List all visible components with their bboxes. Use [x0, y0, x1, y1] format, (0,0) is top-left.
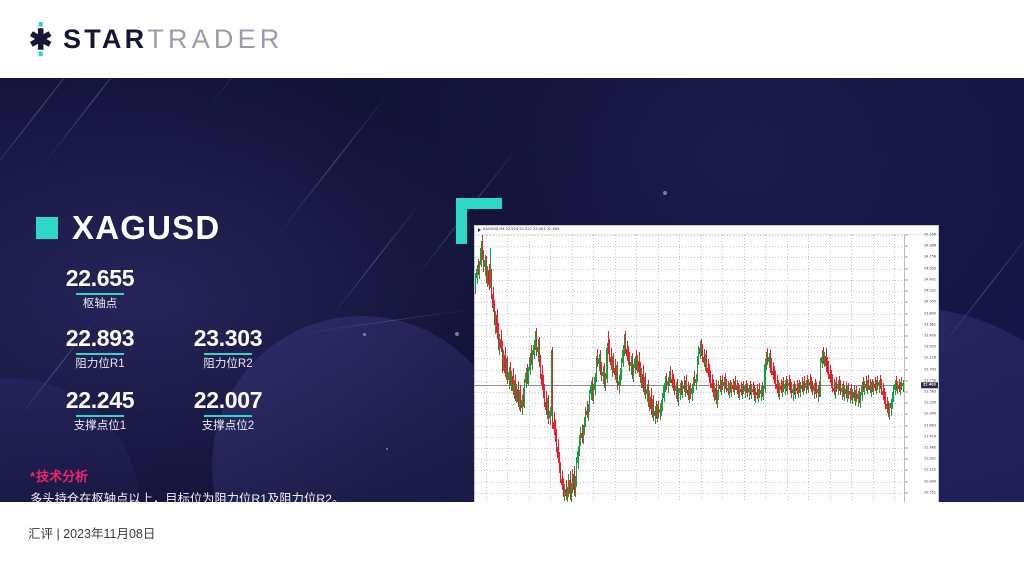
pivot-label: 枢轴点 [36, 298, 164, 311]
pivot-row: 22.893 阻力位R1 23.303 阻力位R2 [36, 326, 336, 370]
y-axis-tick-label: 24.600 [924, 267, 936, 270]
y-axis-tick-mark [905, 448, 908, 449]
y-axis-tick-mark [905, 380, 908, 381]
background-dot [363, 333, 366, 336]
pivot-cell-r1: 22.893 阻力位R1 [36, 326, 164, 370]
pivot-cell-r2: 23.303 阻力位R2 [164, 326, 292, 370]
y-axis-tick-label: 25.150 [924, 233, 936, 236]
y-axis-tick-mark [905, 425, 908, 426]
y-axis-tick-label: 22.040 [924, 413, 936, 416]
logo-text-star: STAR [63, 24, 147, 54]
chart-title: XAGUSD,H4 22.524 22.527 23.451 22.463 [483, 228, 559, 232]
pivot-value: 23.303 [164, 326, 292, 352]
y-axis-tick-mark [905, 324, 908, 325]
pivot-value: 22.655 [36, 266, 164, 292]
page-header: STARTRADER [0, 0, 1024, 78]
slide-root: STARTRADER XAGUSD [0, 0, 1024, 576]
chart-plot-wrapper: 28 Aug 202331 Aug 13:005 Sep 05:007 Sep … [475, 235, 938, 502]
pivot-row: 22.655 枢轴点 [36, 266, 336, 310]
y-axis-tick-label: 23.020 [924, 345, 936, 348]
y-axis-tick-label: 24.401 [924, 278, 936, 281]
y-axis-tick-label: 22.128 [924, 357, 936, 360]
analysis-line-1: 多头持仓在枢轴点以上，目标位为阻力位R1及阻力位R2。 [30, 490, 430, 502]
page-title: XAGUSD [72, 211, 220, 244]
pivot-underline [204, 415, 252, 417]
y-axis-tick-mark [905, 279, 908, 280]
pivot-underline [76, 293, 124, 295]
pivot-underline [76, 353, 124, 355]
y-axis-tick-label: 21.479 [924, 435, 936, 438]
y-axis-tick-mark [905, 403, 908, 404]
y-axis-tick-mark [905, 335, 908, 336]
y-axis-tick-mark [905, 302, 908, 303]
title-square-icon [36, 217, 58, 239]
pivot-value: 22.007 [164, 388, 292, 414]
y-axis-tick-label: 22.743 [924, 368, 936, 371]
y-axis-tick-mark [905, 492, 908, 493]
footer-caption: 汇评 | 2023年11月08日 [28, 528, 155, 541]
pivot-cell-pivot: 22.655 枢轴点 [36, 266, 164, 310]
technical-analysis-heading: *技术分析 [30, 470, 430, 484]
y-axis-tick-mark [905, 459, 908, 460]
y-axis-tick-mark [905, 470, 908, 471]
main-dark-panel: XAGUSD 22.655 枢轴点 22.893 阻力位R1 23.303 [0, 78, 1024, 502]
background-dot [455, 332, 459, 336]
pivot-label: 阻力位R1 [36, 358, 164, 371]
pivot-label: 支撑点位2 [164, 420, 292, 433]
candle-series [475, 235, 904, 502]
candlestick-plot-area[interactable]: 28 Aug 202331 Aug 13:005 Sep 05:007 Sep … [475, 235, 904, 502]
y-axis-tick-label: 20.751 [924, 491, 936, 494]
brand-logo[interactable]: STARTRADER [26, 22, 284, 56]
background-dot [663, 191, 667, 195]
y-axis-tick-mark [905, 414, 908, 415]
pivot-levels-group: 22.655 枢轴点 22.893 阻力位R1 23.303 阻力位R2 [36, 266, 336, 432]
y-axis-tick-label: 21.583 [924, 390, 936, 393]
y-axis-tick-label: 21.480 [924, 446, 936, 449]
chart-title-bar: XAGUSD,H4 22.524 22.527 23.451 22.463 [475, 226, 938, 235]
pivot-underline [204, 353, 252, 355]
pivot-row: 22.245 支撑点位1 22.007 支撑点位2 [36, 388, 336, 432]
y-axis-tick-label: 23.400 [924, 334, 936, 337]
chart-expand-icon[interactable] [478, 228, 481, 232]
asterisk-marker: * [30, 469, 35, 484]
star-asterisk-icon [26, 22, 56, 56]
logo-text-trader: TRADER [147, 24, 283, 54]
pivot-value: 22.245 [36, 388, 164, 414]
technical-analysis-heading-text: 技术分析 [36, 469, 88, 484]
technical-analysis-body: 多头持仓在枢轴点以上，目标位为阻力位R1及阻力位R2。 若低于枢轴点，则可能下跌… [30, 490, 430, 502]
y-axis-tick-label: 21.122 [924, 469, 936, 472]
y-axis-tick-mark [905, 313, 908, 314]
current-price-badge: 22.483 [921, 382, 938, 387]
y-axis-tick-mark [905, 436, 908, 437]
pivot-cell-s1: 22.245 支撑点位1 [36, 388, 164, 432]
pivot-label: 支撑点位1 [36, 420, 164, 433]
technical-analysis-block: *技术分析 多头持仓在枢轴点以上，目标位为阻力位R1及阻力位R2。 若低于枢轴点… [30, 470, 430, 502]
pivot-cell-s2: 22.007 支撑点位2 [164, 388, 292, 432]
y-axis-tick-mark [905, 347, 908, 348]
pivot-label: 阻力位R2 [164, 358, 292, 371]
y-axis-tick-mark [905, 391, 908, 392]
y-axis-tick-mark [905, 369, 908, 370]
y-axis-tick-mark [905, 257, 908, 258]
pivot-value: 22.893 [36, 326, 164, 352]
y-axis-tick-label: 21.200 [924, 401, 936, 404]
y-axis-tick-mark [905, 481, 908, 482]
y-axis-tick-label: 20.940 [924, 480, 936, 483]
y-axis-tick-mark [905, 291, 908, 292]
background-dot [386, 448, 388, 450]
y-axis-tick-mark [905, 358, 908, 359]
y-axis-tick-label: 23.840 [924, 312, 936, 315]
pivot-underline [76, 415, 124, 417]
y-axis-tick-mark [905, 268, 908, 269]
y-axis-tick-mark [905, 246, 908, 247]
y-axis-tick-label: 23.681 [924, 323, 936, 326]
instrument-title: XAGUSD [36, 211, 220, 244]
y-axis-tick-mark [905, 235, 908, 236]
y-axis-tick-label: 21.301 [924, 457, 936, 460]
y-axis-tick-label: 24.050 [924, 301, 936, 304]
y-axis-tick-label: 21.883 [924, 424, 936, 427]
page-footer: 汇评 | 2023年11月08日 [0, 502, 1024, 576]
price-chart[interactable]: XAGUSD,H4 22.524 22.527 23.451 22.463 28… [474, 225, 939, 502]
y-axis-tick-label: 24.758 [924, 256, 936, 259]
y-axis-tick-label: 24.231 [924, 289, 936, 292]
y-axis-price-scale[interactable]: 25.15024.98824.75824.60024.40124.23124.0… [904, 235, 938, 502]
y-axis-tick-label: 24.988 [924, 244, 936, 247]
